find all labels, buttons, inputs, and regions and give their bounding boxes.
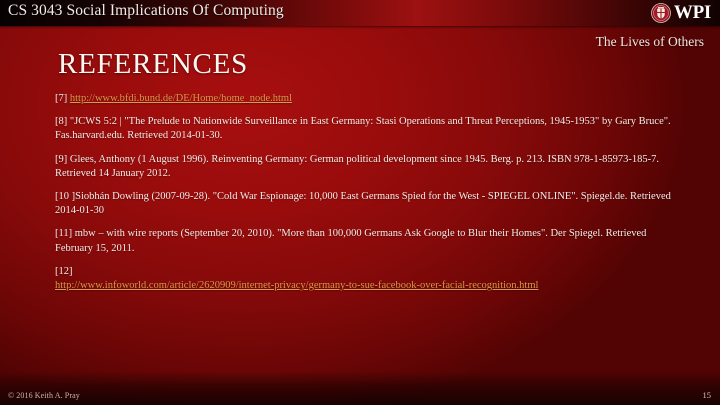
course-title: CS 3043 Social Implications Of Computing xyxy=(8,2,284,20)
wpi-logo: WPI xyxy=(651,1,711,25)
slide-header-bar: CS 3043 Social Implications Of Computing… xyxy=(0,0,720,26)
presentation-subtitle: The Lives of Others xyxy=(596,34,704,50)
reference-text-12: [12] xyxy=(55,266,73,277)
reference-link-12[interactable]: http://www.infoworld.com/article/2620909… xyxy=(55,279,675,293)
wpi-seal-icon xyxy=(651,3,671,23)
reference-text-10: [10 ]Siobhán Dowling (2007-09-28). "Cold… xyxy=(55,191,671,216)
references-list: [7] http://www.bfdi.bund.de/DE/Home/home… xyxy=(55,92,675,293)
wpi-wordmark: WPI xyxy=(674,3,711,23)
reference-item-10: [10 ]Siobhán Dowling (2007-09-28). "Cold… xyxy=(55,190,675,218)
page-title: REFERENCES xyxy=(58,48,248,81)
reference-text-9: [9] Glees, Anthony (1 August 1996). Rein… xyxy=(55,154,659,179)
reference-link-7[interactable]: http://www.bfdi.bund.de/DE/Home/home_nod… xyxy=(70,93,292,104)
reference-text-8: [8] "JCWS 5:2 | "The Prelude to Nationwi… xyxy=(55,116,671,141)
reference-item-9: [9] Glees, Anthony (1 August 1996). Rein… xyxy=(55,153,675,181)
reference-text-7: [7] xyxy=(55,93,70,104)
reference-item-11: [11] mbw – with wire reports (September … xyxy=(55,227,675,255)
footer-copyright: © 2016 Keith A. Pray xyxy=(8,391,80,400)
reference-item-12: [12]http://www.infoworld.com/article/262… xyxy=(55,265,675,293)
slide-footer-bar xyxy=(0,371,720,405)
presentation-slide: CS 3043 Social Implications Of Computing… xyxy=(0,0,720,405)
reference-text-11: [11] mbw – with wire reports (September … xyxy=(55,228,646,253)
reference-item-8: [8] "JCWS 5:2 | "The Prelude to Nationwi… xyxy=(55,115,675,143)
slide-page-number: 15 xyxy=(703,390,712,400)
reference-item-7: [7] http://www.bfdi.bund.de/DE/Home/home… xyxy=(55,92,675,106)
